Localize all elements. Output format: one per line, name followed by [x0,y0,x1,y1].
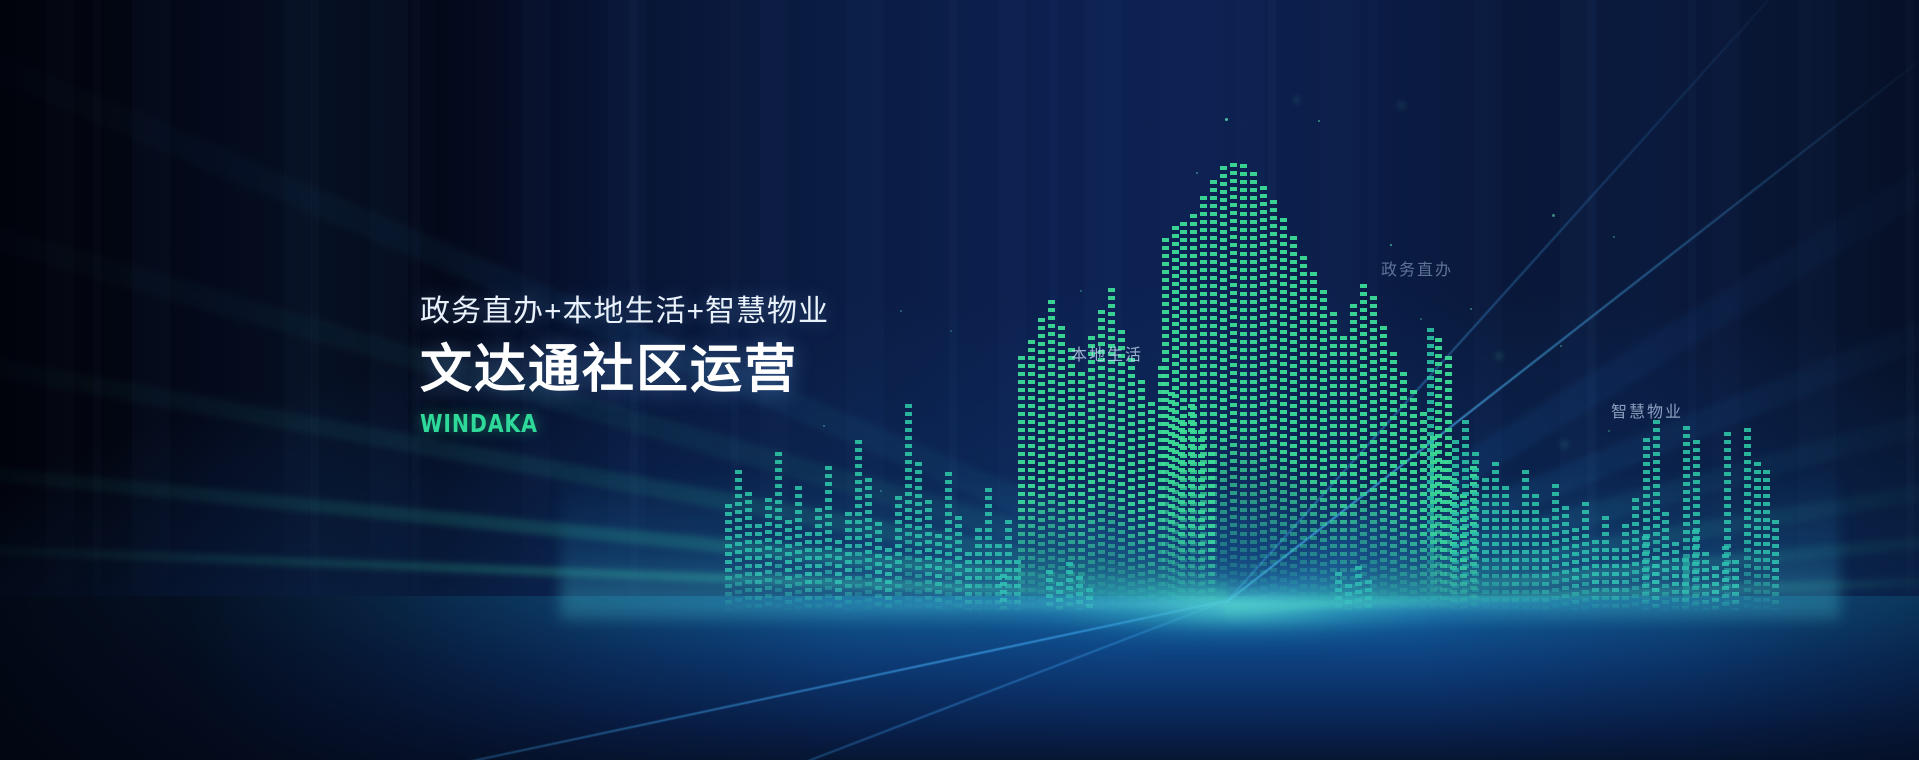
city-dot-column [1270,200,1277,612]
city-label-1: 政务直办 [1381,256,1453,280]
city-dot-column [1220,166,1227,612]
glow-particle [1560,440,1569,449]
glow-particle [1613,236,1615,238]
glow-particle [1552,214,1555,217]
glow-particle [1398,102,1405,109]
city-dot-column [1210,180,1217,612]
city-dot-column [1744,428,1751,612]
city-dot-column [855,440,862,612]
city-dot-column [1653,420,1660,612]
glow-particle [1294,97,1300,103]
city-dot-column [1754,462,1761,612]
glow-particle [1225,118,1228,121]
city-dot-column [1260,186,1267,612]
city-dot-column [865,478,872,612]
glow-particle [950,330,952,332]
city-dot-column [1683,426,1690,612]
glow-particle [900,310,902,312]
glow-particle [1318,120,1320,122]
glow-particle [1390,244,1392,246]
city-label-3: 智慧物业 [1611,398,1683,422]
glow-particle [1430,436,1432,438]
glow-particle [1560,345,1562,347]
city-dot-column [825,466,832,612]
city-dot-column [1280,218,1287,612]
city-dot-column [745,492,752,612]
city-dot-column [1230,163,1237,612]
glow-particle [880,490,882,492]
glow-particle [1470,308,1472,310]
city-dot-column [735,470,742,612]
city-skyline [0,0,1919,640]
city-dot-column [1240,164,1247,612]
city-dot-column [1200,196,1207,612]
city-dot-column [1190,214,1197,612]
city-dot-column [795,486,802,612]
copy-block: 政务直办+本地生活+智慧物业 文达通社区运营 WINDAKA [420,294,829,438]
brand-wordmark: WINDAKA [420,409,755,438]
city-dot-column [1643,438,1650,612]
glow-particle [1135,470,1137,472]
city-dot-column [1763,470,1770,612]
city-dot-column [765,498,772,612]
horizon-light-band [520,597,1919,611]
hero-banner: 政务直办本地生活智慧物业 政务直办+本地生活+智慧物业 文达通社区运营 WIND… [0,0,1919,760]
glow-particle [1196,172,1198,174]
city-dot-column [1693,440,1700,612]
city-dot-column [725,504,732,612]
city-dot-column [1632,498,1639,612]
banner-headline: 文达通社区运营 [420,340,829,401]
glow-particle [1420,318,1422,320]
city-dot-column [1172,226,1179,612]
city-dot-column [1250,172,1257,612]
glow-particle [1266,400,1268,402]
city-dot-column [1724,432,1731,612]
banner-subtitle: 政务直办+本地生活+智慧物业 [420,294,829,330]
glow-particle [1080,290,1082,292]
city-dot-column [1180,222,1187,612]
glow-particle [1495,352,1503,360]
city-dot-column [775,452,782,612]
city-label-2: 本地生活 [1071,341,1143,365]
glow-particle [1608,430,1610,432]
